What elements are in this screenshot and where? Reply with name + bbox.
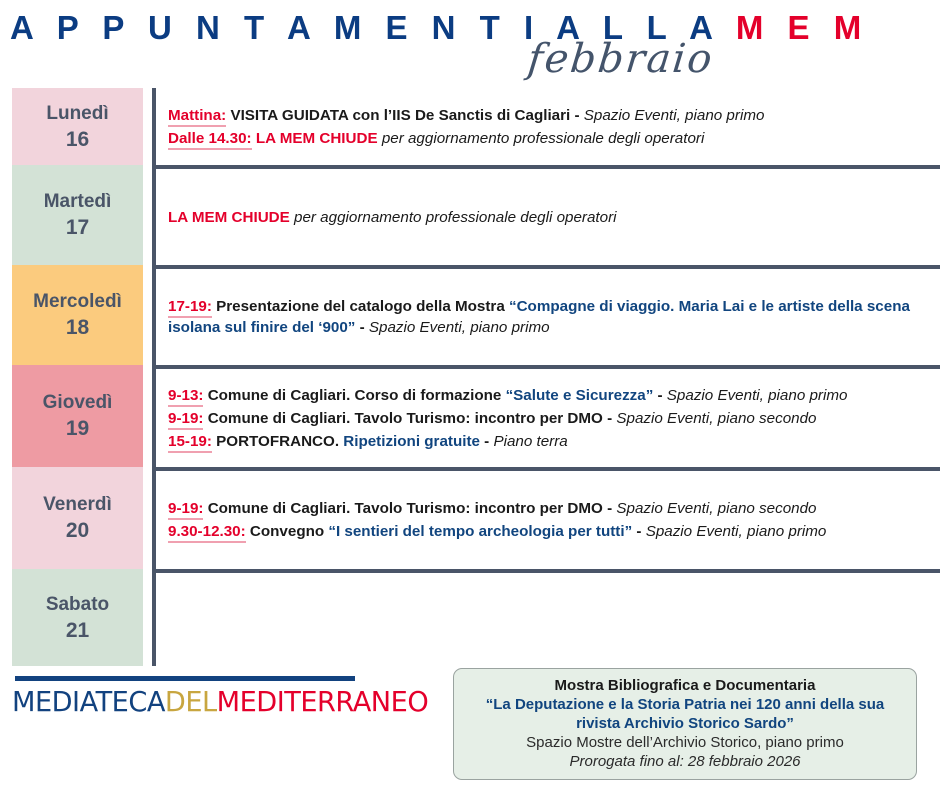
event-time: 9-19: bbox=[168, 410, 203, 430]
exhibition-title: “La Deputazione e la Storia Patria nei 1… bbox=[464, 695, 906, 733]
logo-text: MEDIATECADELMEDITERRANEO bbox=[12, 685, 350, 718]
event-text-segment: Comune di Cagliari. Tavolo Turismo: inco… bbox=[203, 500, 602, 517]
title-accent: M E M bbox=[736, 9, 869, 46]
event-text-segment: - bbox=[653, 387, 667, 404]
event-text-segment: Comune di Cagliari. Tavolo Turismo: inco… bbox=[203, 410, 602, 427]
day-number: 18 bbox=[66, 315, 89, 341]
event-text-segment: PORTOFRANCO. bbox=[212, 433, 343, 450]
event-text-segment: Comune di Cagliari. Corso di formazione bbox=[203, 387, 505, 404]
events-cell bbox=[152, 569, 940, 666]
event-text-segment: Spazio Eventi, piano primo bbox=[667, 387, 848, 404]
day-name: Lunedì bbox=[46, 101, 108, 127]
calendar-row: Mercoledì1817-19: Presentazione del cata… bbox=[0, 265, 940, 365]
day-cell-sabato: Sabato21 bbox=[12, 569, 143, 666]
column-gap bbox=[143, 88, 152, 165]
event-text-segment: Spazio Eventi, piano primo bbox=[584, 107, 765, 124]
events-cell: LA MEM CHIUDE per aggiornamento professi… bbox=[152, 165, 940, 265]
day-name: Martedì bbox=[44, 189, 112, 215]
calendar-row: Sabato21 bbox=[0, 569, 940, 666]
events-cell: Mattina: VISITA GUIDATA con l’IIS De San… bbox=[152, 88, 940, 165]
exhibition-deadline: Prorogata fino al: 28 febbraio 2026 bbox=[464, 752, 906, 771]
day-cell-venerdi: Venerdì20 bbox=[12, 467, 143, 569]
event-text-segment: LA MEM CHIUDE bbox=[168, 209, 290, 226]
logo-part-del: DEL bbox=[165, 685, 217, 718]
day-number: 21 bbox=[66, 618, 89, 644]
logo-part-mediterraneo: MEDITERRANEO bbox=[217, 685, 429, 718]
event-entry: 9-19: Comune di Cagliari. Tavolo Turismo… bbox=[168, 498, 932, 519]
event-entry: 17-19: Presentazione del catalogo della … bbox=[168, 296, 932, 338]
calendar-row: Giovedì199-13: Comune di Cagliari. Corso… bbox=[0, 365, 940, 467]
events-cell: 9-13: Comune di Cagliari. Corso di forma… bbox=[152, 365, 940, 467]
page-header: A P P U N T A M E N T I A L L A M E M fe… bbox=[0, 0, 940, 88]
day-cell-lunedi: Lunedì16 bbox=[12, 88, 143, 165]
calendar-row: Martedì17LA MEM CHIUDE per aggiornamento… bbox=[0, 165, 940, 265]
event-text-segment: - bbox=[480, 433, 494, 450]
day-name: Giovedì bbox=[43, 390, 113, 416]
event-text-segment: - bbox=[355, 319, 369, 336]
event-text-segment: per aggiornamento professionale degli op… bbox=[290, 209, 617, 226]
day-cell-martedi: Martedì17 bbox=[12, 165, 143, 265]
event-text-segment: - bbox=[603, 410, 617, 427]
event-text-segment: Spazio Eventi, piano secondo bbox=[616, 500, 816, 517]
column-gap bbox=[143, 467, 152, 569]
event-entry: LA MEM CHIUDE per aggiornamento professi… bbox=[168, 207, 932, 228]
event-text-segment: Convegno bbox=[246, 523, 329, 540]
exhibition-type: Mostra Bibliografica e Documentaria bbox=[464, 676, 906, 695]
event-time: Dalle 14.30: bbox=[168, 130, 252, 150]
event-entry: 9-13: Comune di Cagliari. Corso di forma… bbox=[168, 385, 932, 406]
day-number: 20 bbox=[66, 518, 89, 544]
exhibition-info-box: Mostra Bibliografica e Documentaria “La … bbox=[453, 668, 917, 780]
event-text-segment: - bbox=[632, 523, 646, 540]
day-name: Mercoledì bbox=[33, 289, 122, 315]
page-title: A P P U N T A M E N T I A L L A M E M bbox=[10, 4, 935, 52]
events-cell: 9-19: Comune di Cagliari. Tavolo Turismo… bbox=[152, 467, 940, 569]
column-gap bbox=[143, 365, 152, 467]
logo-bar bbox=[15, 676, 355, 681]
mem-logo: MEDIATECADELMEDITERRANEO bbox=[12, 676, 360, 718]
event-text-segment: Presentazione del catalogo della Mostra bbox=[212, 298, 509, 315]
calendar-grid: Lunedì16Mattina: VISITA GUIDATA con l’II… bbox=[0, 88, 940, 666]
event-text-segment: Ripetizioni gratuite bbox=[343, 433, 480, 450]
calendar-row: Venerdì209-19: Comune di Cagliari. Tavol… bbox=[0, 467, 940, 569]
day-number: 17 bbox=[66, 215, 89, 241]
column-gap bbox=[143, 165, 152, 265]
event-text-segment: LA MEM CHIUDE bbox=[252, 130, 378, 147]
event-text-segment: Piano terra bbox=[493, 433, 567, 450]
event-text-segment: “I sentieri del tempo archeologia per tu… bbox=[328, 523, 632, 540]
event-entry: 9-19: Comune di Cagliari. Tavolo Turismo… bbox=[168, 408, 932, 429]
event-time: 9-13: bbox=[168, 387, 203, 407]
exhibition-location: Spazio Mostre dell’Archivio Storico, pia… bbox=[464, 733, 906, 752]
event-text-segment: VISITA GUIDATA con l’IIS De Sanctis di C… bbox=[226, 107, 570, 124]
month-script-label: febbraio bbox=[526, 36, 716, 82]
event-entry: Mattina: VISITA GUIDATA con l’IIS De San… bbox=[168, 105, 932, 126]
day-name: Sabato bbox=[46, 592, 109, 618]
event-entry: 15-19: PORTOFRANCO. Ripetizioni gratuite… bbox=[168, 431, 932, 452]
event-time: 9-19: bbox=[168, 500, 203, 520]
event-text-segment: Spazio Eventi, piano secondo bbox=[616, 410, 816, 427]
page-footer: MEDIATECADELMEDITERRANEO Mostra Bibliogr… bbox=[0, 666, 940, 756]
event-time: 9.30-12.30: bbox=[168, 523, 246, 543]
day-number: 16 bbox=[66, 127, 89, 153]
event-text-segment: Spazio Eventi, piano primo bbox=[646, 523, 827, 540]
calendar-row: Lunedì16Mattina: VISITA GUIDATA con l’II… bbox=[0, 88, 940, 165]
day-cell-mercoledi: Mercoledì18 bbox=[12, 265, 143, 365]
event-text-segment: Spazio Eventi, piano primo bbox=[369, 319, 550, 336]
event-text-segment: “Salute e Sicurezza” bbox=[506, 387, 654, 404]
event-text-segment: - bbox=[603, 500, 617, 517]
logo-part-mediateca: MEDIATECA bbox=[12, 685, 165, 718]
event-text-segment: - bbox=[570, 107, 584, 124]
event-entry: 9.30-12.30: Convegno “I sentieri del tem… bbox=[168, 521, 932, 542]
column-gap bbox=[143, 265, 152, 365]
day-name: Venerdì bbox=[43, 492, 112, 518]
event-time: 15-19: bbox=[168, 433, 212, 453]
event-time: Mattina: bbox=[168, 107, 226, 127]
column-gap bbox=[143, 569, 152, 666]
event-text-segment: per aggiornamento professionale degli op… bbox=[378, 130, 705, 147]
event-time: 17-19: bbox=[168, 298, 212, 318]
day-cell-giovedi: Giovedì19 bbox=[12, 365, 143, 467]
events-cell: 17-19: Presentazione del catalogo della … bbox=[152, 265, 940, 365]
day-number: 19 bbox=[66, 416, 89, 442]
event-entry: Dalle 14.30: LA MEM CHIUDE per aggiornam… bbox=[168, 128, 932, 149]
